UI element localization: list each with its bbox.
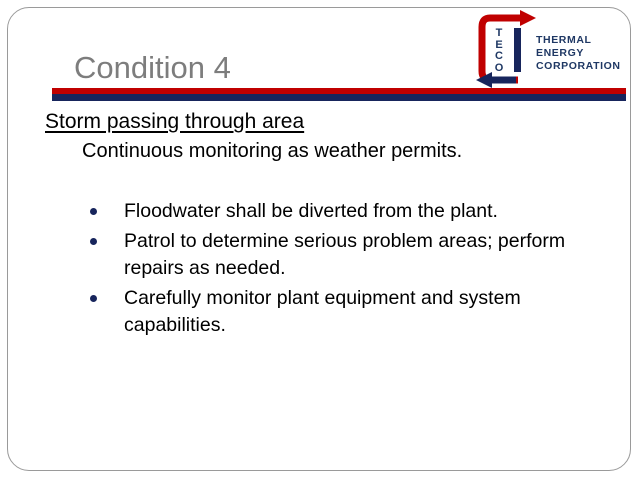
list-item: Patrol to determine serious problem area… xyxy=(86,228,606,282)
bullet-text: Patrol to determine serious problem area… xyxy=(124,230,565,279)
teco-letter-c: C xyxy=(490,51,508,63)
bullet-dot-icon xyxy=(90,208,97,215)
teco-letter-t: T xyxy=(490,28,508,40)
teco-letter-o: O xyxy=(490,63,508,75)
teco-monogram: T E C O xyxy=(490,28,508,74)
slide: T E C O THERMAL ENERGY CORPORATION Condi… xyxy=(0,0,638,478)
teco-logo: T E C O THERMAL ENERGY CORPORATION xyxy=(474,10,622,88)
bullet-dot-icon xyxy=(90,295,97,302)
body-subheading: Continuous monitoring as weather permits… xyxy=(82,140,462,163)
bullet-text: Floodwater shall be diverted from the pl… xyxy=(124,200,498,222)
logo-line-energy: ENERGY xyxy=(536,47,626,60)
list-item: Carefully monitor plant equipment and sy… xyxy=(86,285,606,339)
list-item: Floodwater shall be diverted from the pl… xyxy=(86,198,606,225)
slide-title: Condition 4 xyxy=(74,50,231,86)
bullet-dot-icon xyxy=(90,238,97,245)
divider-bar-navy xyxy=(52,94,626,101)
bullet-text: Carefully monitor plant equipment and sy… xyxy=(124,287,521,336)
body-heading: Storm passing through area xyxy=(45,110,304,134)
logo-line-thermal: THERMAL xyxy=(536,34,626,47)
logo-line-corporation: CORPORATION xyxy=(536,60,626,73)
teco-logo-mark: T E C O xyxy=(474,10,540,88)
teco-logo-wordmark: THERMAL ENERGY CORPORATION xyxy=(536,34,626,73)
bullet-list: Floodwater shall be diverted from the pl… xyxy=(86,198,606,342)
